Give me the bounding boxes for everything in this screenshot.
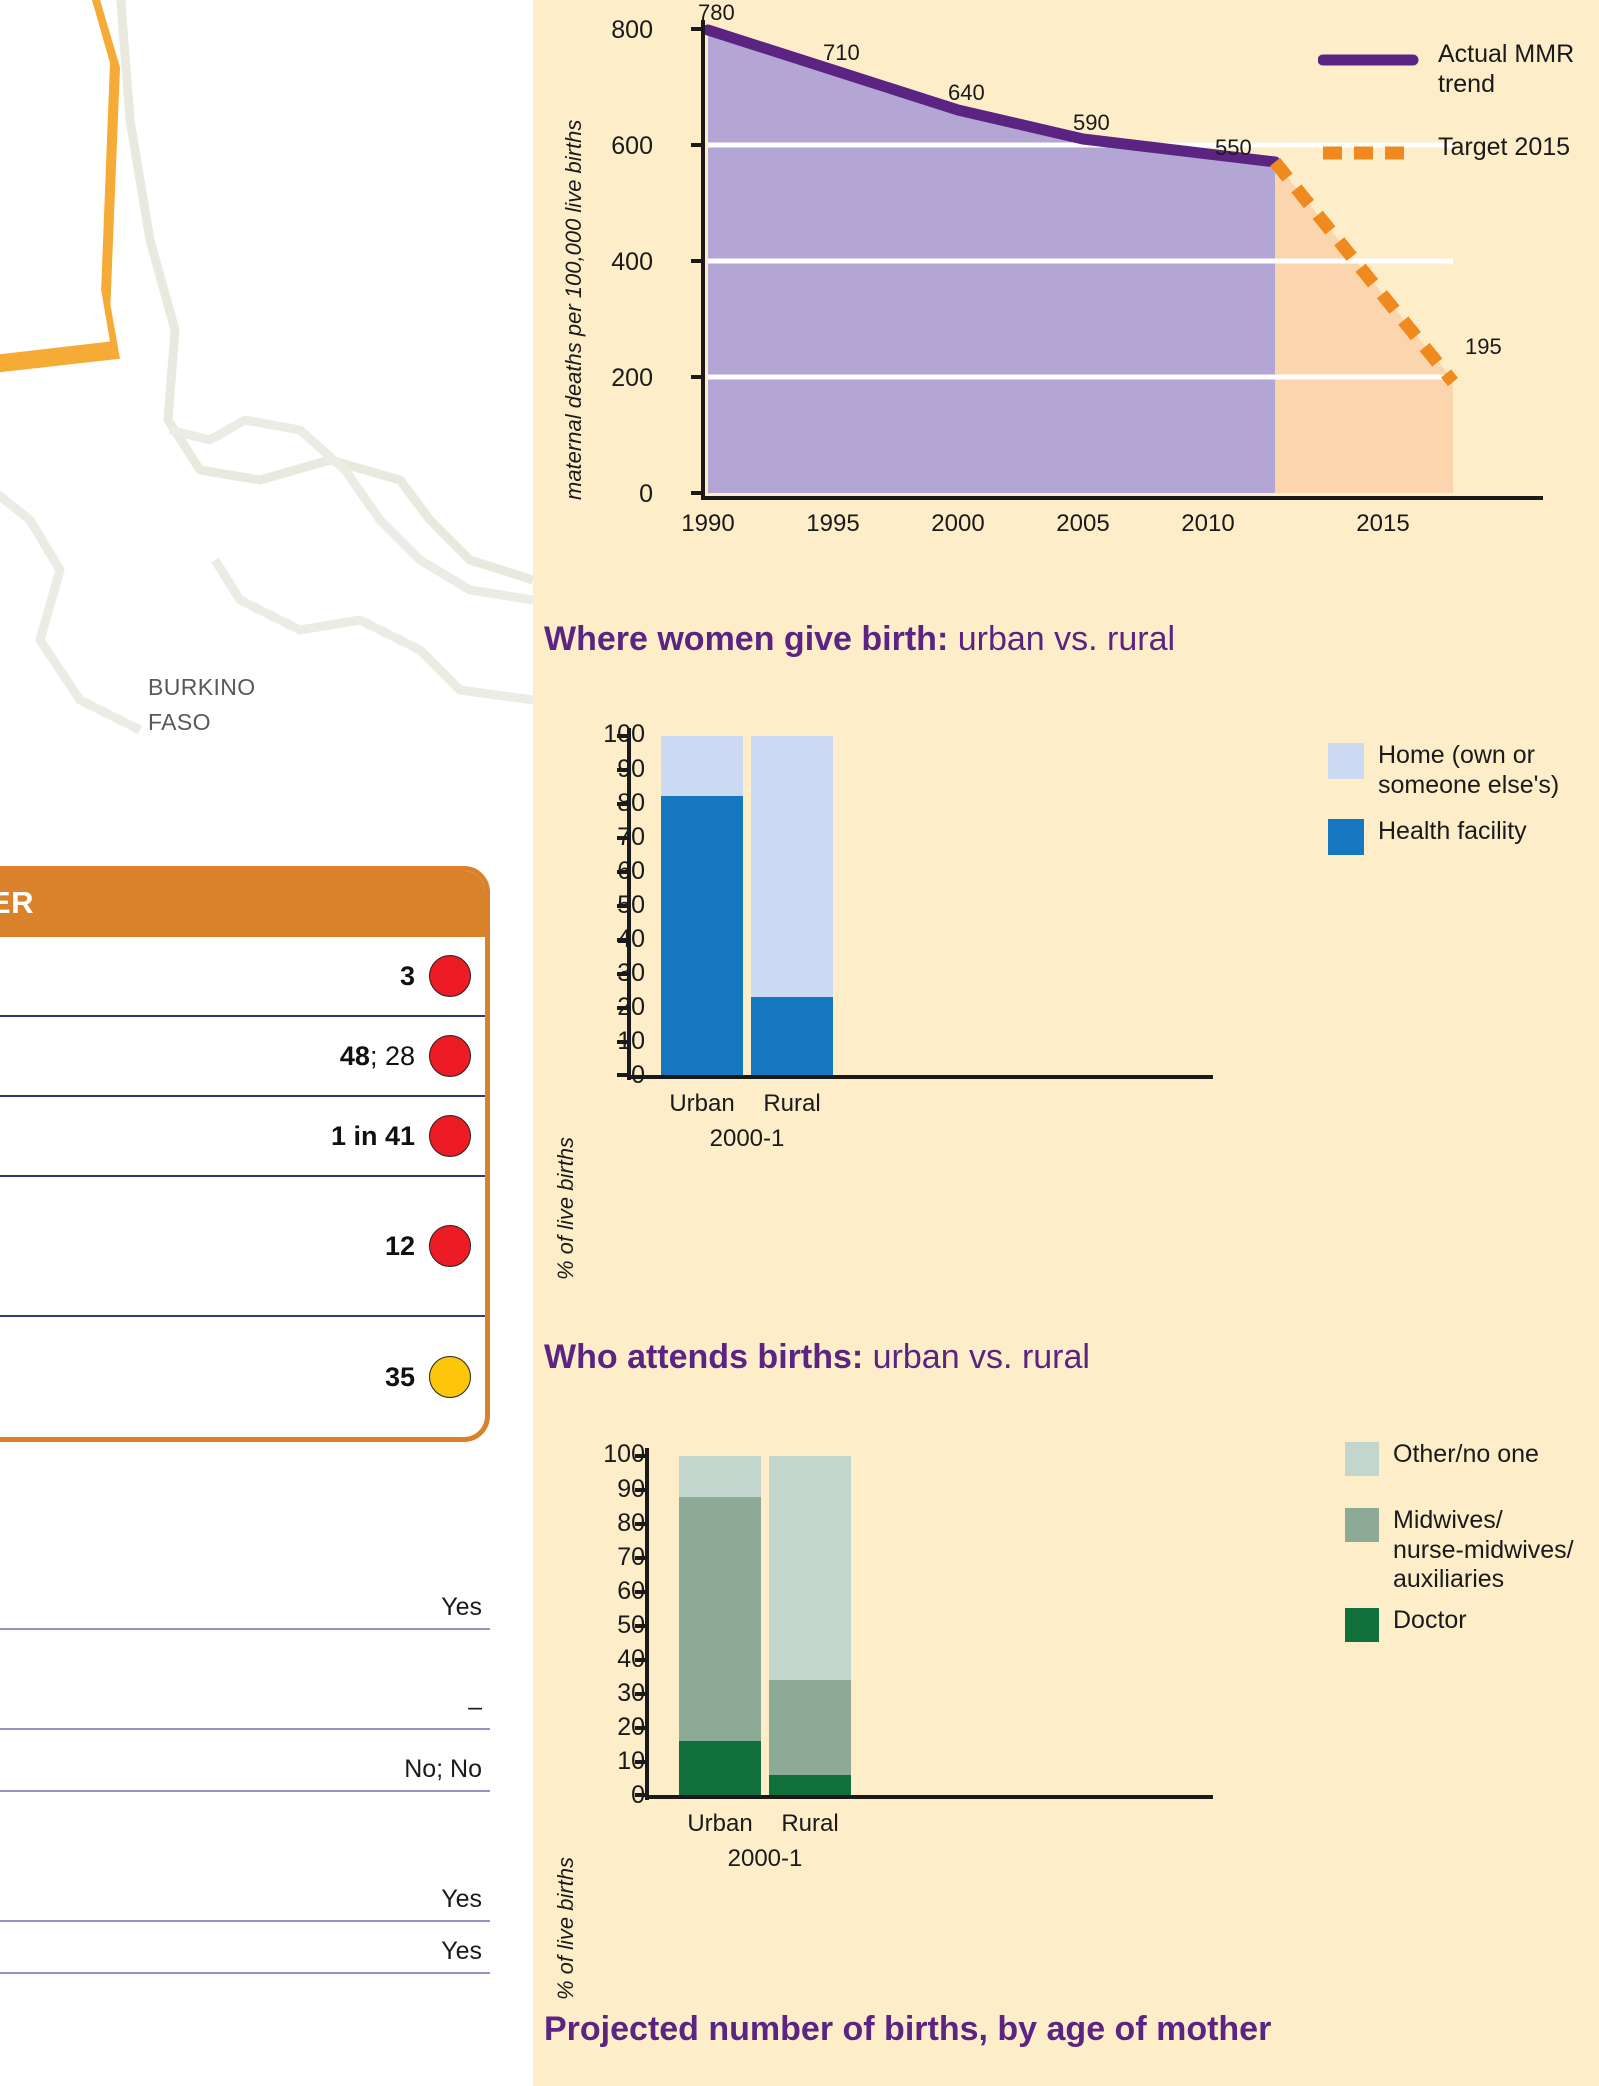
barometer-value-bold: 12 bbox=[385, 1231, 415, 1261]
chart-who-attends-births: % of live births 100 90 80 70 60 50 40 3… bbox=[533, 1420, 1599, 2020]
associations-row-value: No; No bbox=[388, 1755, 482, 1784]
barometer-card: BAROMETER hs 3 ; rural 48; 28 ath 1 in 4… bbox=[0, 866, 490, 1442]
legend-swatch-doctor bbox=[1345, 1608, 1379, 1642]
mmr-point-label-195: 195 bbox=[1465, 334, 1502, 360]
mmr-target-area bbox=[1275, 162, 1453, 493]
section-title-where-born-rest: urban vs. rural bbox=[948, 620, 1175, 658]
associations-row-value: – bbox=[452, 1693, 482, 1722]
associations-row: epresented by – bbox=[0, 1630, 490, 1730]
section-title-who-attends: Who attends births: urban vs. rural bbox=[544, 1338, 1090, 1377]
associations-row-label: N bbox=[0, 1752, 388, 1785]
mmr-xtick-2000: 2000 bbox=[908, 510, 1008, 538]
barometer-row-value: 12 bbox=[385, 1231, 429, 1262]
right-panel: maternal deaths per 100,000 live births … bbox=[533, 0, 1599, 2086]
barometer-title: BAROMETER bbox=[0, 871, 485, 937]
associations-row-value: Yes bbox=[425, 1937, 482, 1966]
associations-row: alth plan exists ce Yes bbox=[0, 1792, 490, 1922]
mmr-point-label-640: 640 bbox=[948, 80, 985, 106]
status-dot-red bbox=[429, 1115, 471, 1157]
mmr-point-label-590: 590 bbox=[1073, 110, 1110, 136]
bar-rural-doctor bbox=[769, 1775, 851, 1795]
barometer-row-value: 3 bbox=[400, 961, 429, 992]
where-born-cat-rural: Rural bbox=[742, 1090, 842, 1118]
map-area: BURKINO FASO bbox=[0, 0, 533, 860]
status-dot-red bbox=[429, 1035, 471, 1077]
status-dot-red bbox=[429, 955, 471, 997]
barometer-value-bold: 48 bbox=[340, 1041, 370, 1071]
section-title-where-born-bold: Where women give birth: bbox=[544, 620, 948, 658]
section-title-projected: Projected number of births, by age of mo… bbox=[544, 2010, 1271, 2049]
map-label-burkino: BURKINO bbox=[148, 672, 256, 703]
barometer-row-label: hs bbox=[0, 960, 400, 993]
associations-row-label: epresented by bbox=[0, 1690, 452, 1723]
associations-row: Yes bbox=[0, 1578, 490, 1630]
barometer-row-value: 48; 28 bbox=[340, 1041, 429, 1072]
status-dot-yellow bbox=[429, 1356, 471, 1398]
barometer-row: ath 1 in 41 bbox=[0, 1097, 485, 1177]
associations-row-value: Yes bbox=[425, 1593, 482, 1622]
legend-label-midwives: Midwives/ nurse-midwives/ auxiliaries bbox=[1393, 1506, 1599, 1595]
legend-label-other: Other/no one bbox=[1393, 1440, 1599, 1470]
mmr-xtick-2015: 2015 bbox=[1333, 510, 1433, 538]
bar-urban-doctor bbox=[679, 1741, 761, 1795]
barometer-value-bold: 35 bbox=[385, 1362, 415, 1392]
left-panel: BURKINO FASO BAROMETER hs 3 ; rural 48; … bbox=[0, 0, 533, 2086]
section-title-where-born: Where women give birth: urban vs. rural bbox=[544, 620, 1175, 659]
associations-row: Yes bbox=[0, 1922, 490, 1974]
associations-row: N No; No bbox=[0, 1730, 490, 1792]
barometer-row-value: 35 bbox=[385, 1362, 429, 1393]
barometer-row-value: 1 in 41 bbox=[331, 1121, 429, 1152]
barometer-row-label: ath bbox=[0, 1120, 331, 1153]
map-borders-svg bbox=[0, 0, 533, 860]
associations-title: CIATIONS bbox=[0, 1530, 490, 1566]
barometer-row: 35 bbox=[0, 1317, 485, 1437]
barometer-row-label: ; rural bbox=[0, 1040, 340, 1073]
where-born-cat-urban: Urban bbox=[652, 1090, 752, 1118]
who-attends-y-axis-title: % of live births bbox=[553, 1857, 579, 2000]
section-title-who-attends-bold: Who attends births: bbox=[544, 1338, 863, 1376]
where-born-cat-note: 2000-1 bbox=[697, 1125, 797, 1153]
legend-label-doctor: Doctor bbox=[1393, 1606, 1573, 1636]
mmr-xtick-2005: 2005 bbox=[1033, 510, 1133, 538]
section-title-who-attends-rest: urban vs. rural bbox=[863, 1338, 1090, 1376]
legend-label-health-facility: Health facility bbox=[1378, 817, 1588, 847]
barometer-value-bold: 1 in 41 bbox=[331, 1121, 415, 1151]
legend-swatch-other bbox=[1345, 1442, 1379, 1476]
barometer-row: ; rural 48; 28 bbox=[0, 1017, 485, 1097]
bar-urban-facility bbox=[661, 796, 743, 1075]
chart-mmr-trend: maternal deaths per 100,000 live births … bbox=[533, 0, 1599, 560]
mmr-xtick-1990: 1990 bbox=[658, 510, 758, 538]
section-title-projected-bold: Projected number of births, by age of mo… bbox=[544, 2010, 1271, 2048]
mmr-xtick-1995: 1995 bbox=[783, 510, 883, 538]
barometer-row: hs 3 bbox=[0, 937, 485, 1017]
bar-rural-facility bbox=[751, 997, 833, 1075]
legend-swatch-health-facility bbox=[1328, 819, 1364, 855]
mmr-legend-label-target: Target 2015 bbox=[1438, 133, 1599, 163]
associations-block: CIATIONS Yes epresented by – N No; No al… bbox=[0, 1530, 490, 1974]
mmr-legend-swatches bbox=[1318, 40, 1428, 170]
who-attends-cat-rural: Rural bbox=[760, 1810, 860, 1838]
associations-row-value: Yes bbox=[425, 1885, 482, 1914]
status-dot-red bbox=[429, 1225, 471, 1267]
who-attends-cat-urban: Urban bbox=[670, 1810, 770, 1838]
where-born-y-axis-title: % of live births bbox=[553, 1137, 579, 1280]
barometer-value-rest: ; 28 bbox=[370, 1041, 415, 1071]
chart-where-women-give-birth: % of live births 100 90 80 70 60 50 40 3… bbox=[533, 700, 1599, 1300]
barometer-value-bold: 3 bbox=[400, 961, 415, 991]
mmr-point-label-780: 780 bbox=[698, 0, 735, 26]
mmr-point-label-710: 710 bbox=[823, 40, 860, 66]
map-label-faso: FASO bbox=[148, 707, 211, 738]
legend-label-home: Home (own or someone else's) bbox=[1378, 741, 1578, 800]
who-attends-cat-note: 2000-1 bbox=[715, 1845, 815, 1873]
barometer-row: 12 bbox=[0, 1177, 485, 1317]
associations-row-label: alth plan exists ce bbox=[0, 1849, 425, 1914]
mmr-point-label-550: 550 bbox=[1215, 135, 1252, 161]
legend-swatch-midwives bbox=[1345, 1508, 1379, 1542]
legend-swatch-home bbox=[1328, 743, 1364, 779]
mmr-xtick-2010: 2010 bbox=[1158, 510, 1258, 538]
mmr-legend-label-actual: Actual MMR trend bbox=[1438, 40, 1598, 99]
